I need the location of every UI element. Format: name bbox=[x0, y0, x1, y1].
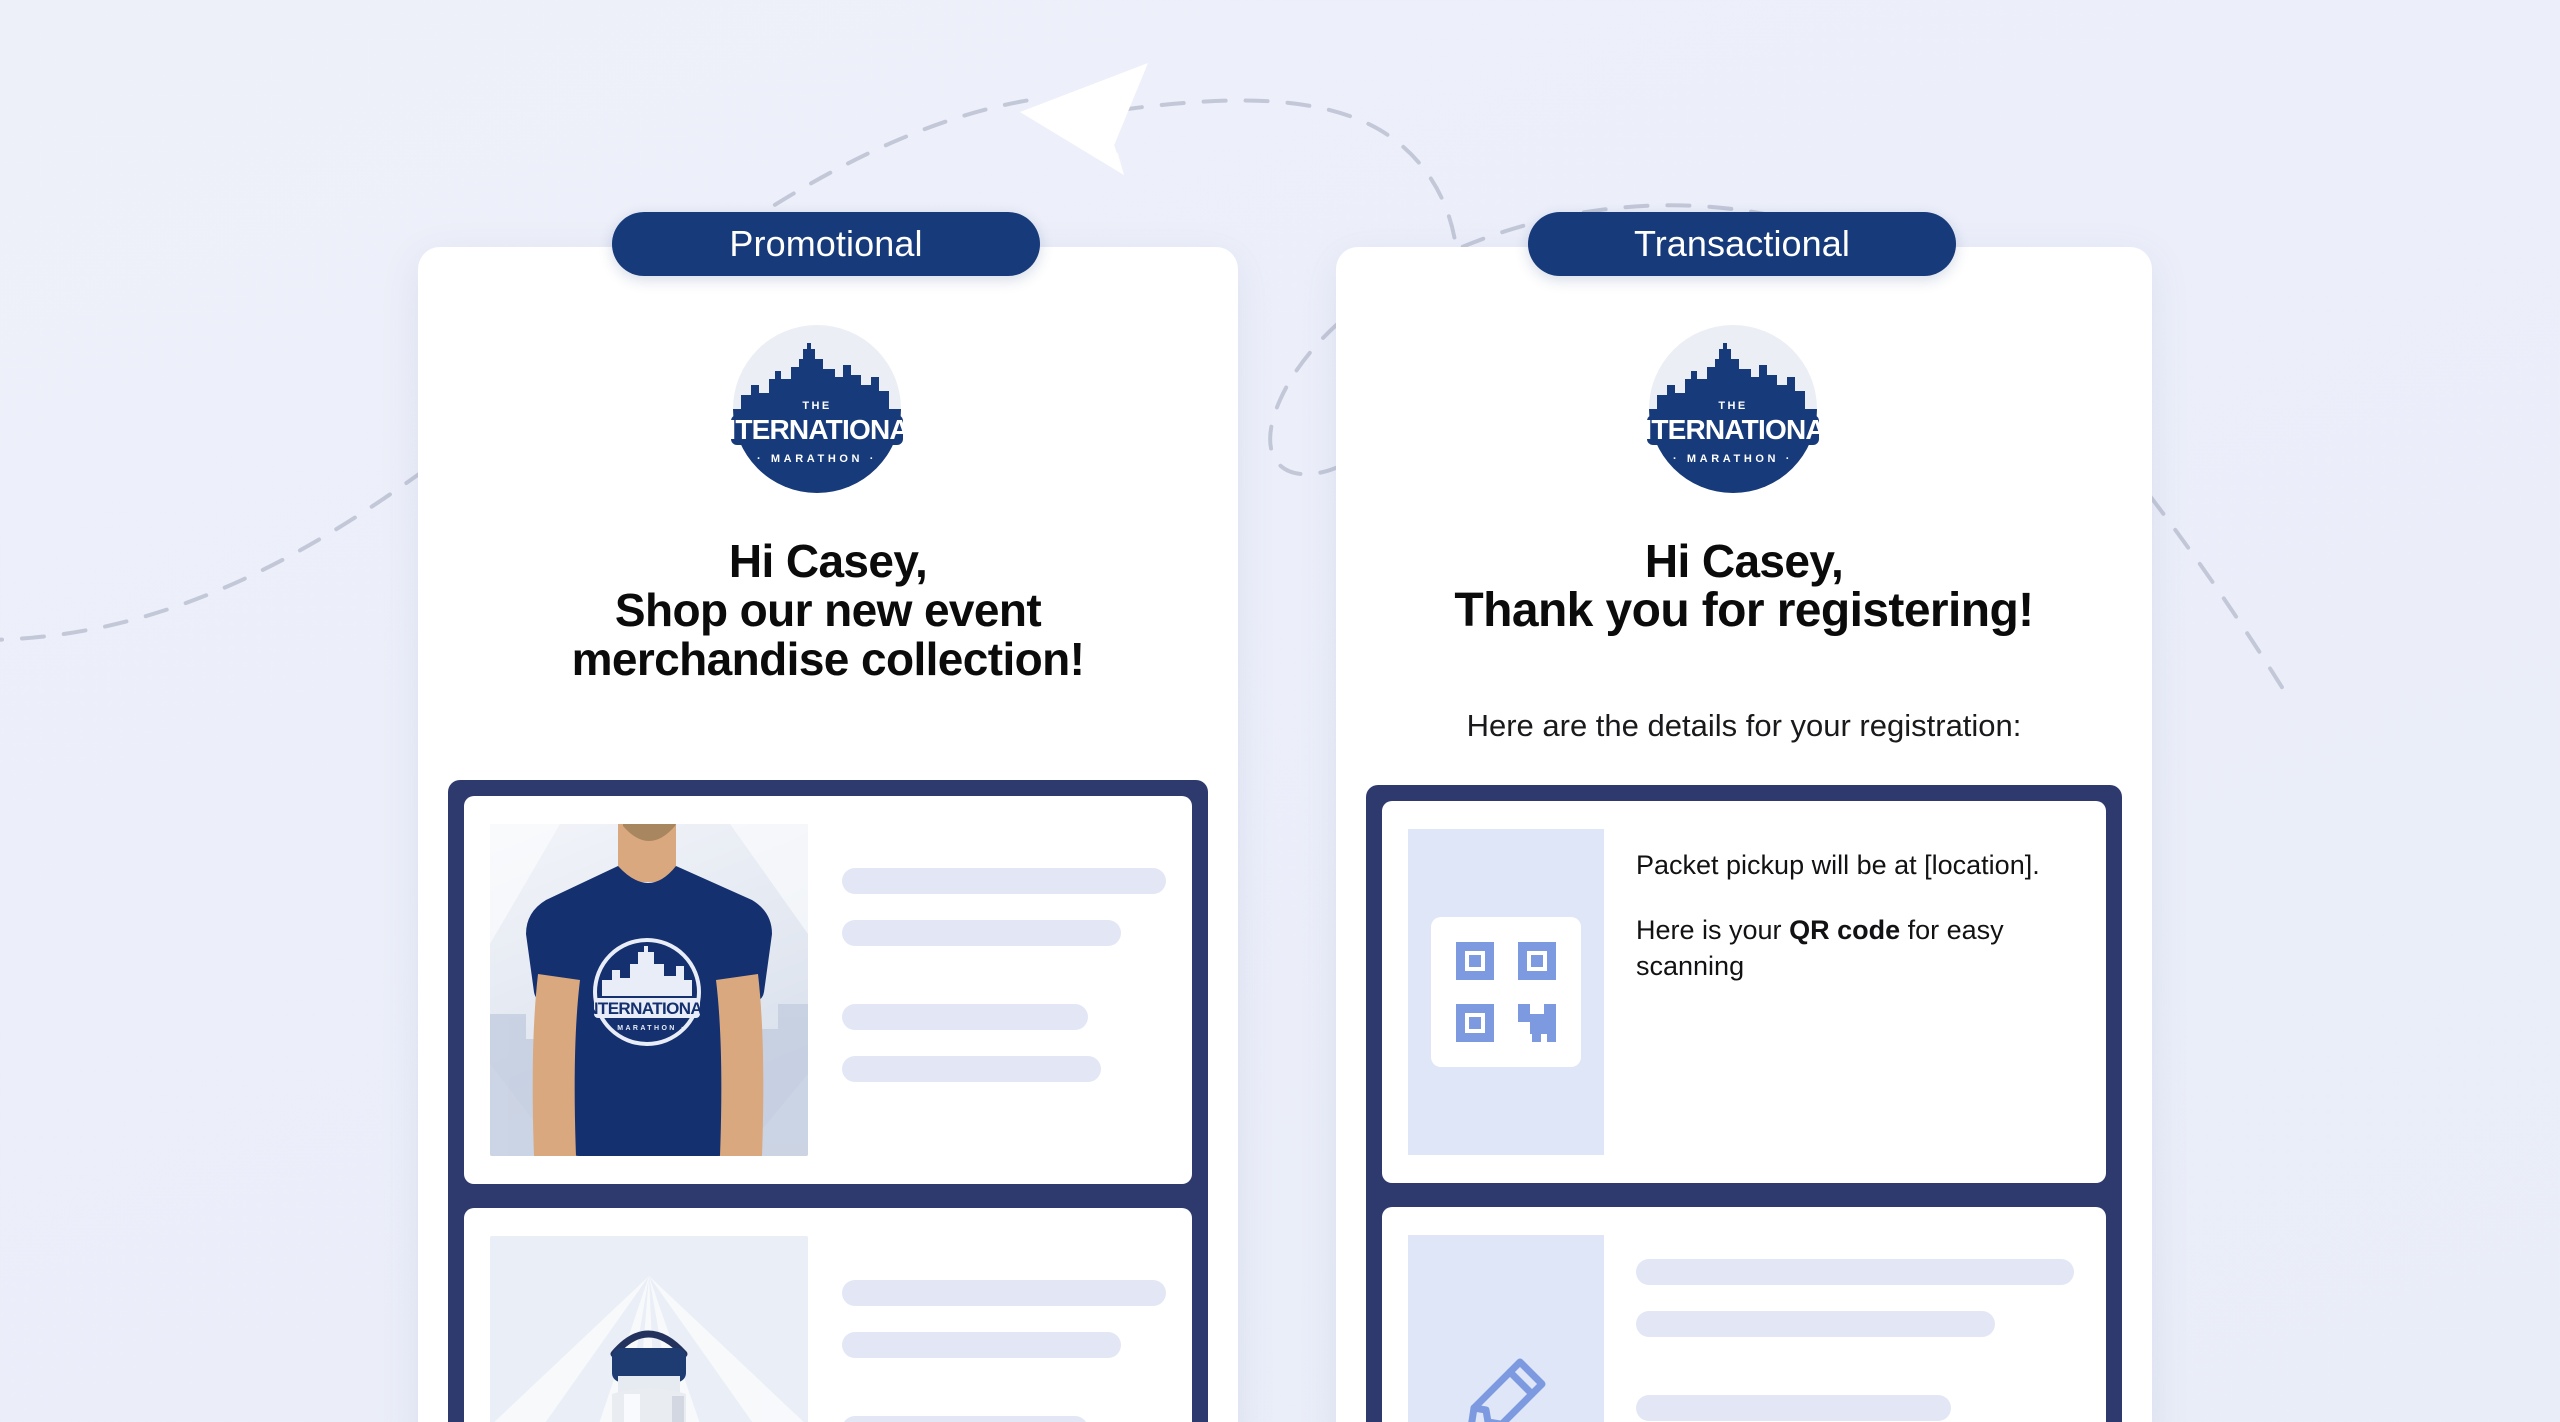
headline-line: merchandise collection! bbox=[438, 635, 1218, 684]
skeleton-bar bbox=[1636, 1259, 2074, 1285]
skeleton-bar bbox=[842, 1416, 1088, 1422]
logo-main: INTERNATIONAL bbox=[711, 414, 923, 445]
promotional-badge[interactable]: Promotional bbox=[612, 212, 1040, 276]
qr-code-icon bbox=[1454, 940, 1558, 1044]
pencil-tile bbox=[1408, 1235, 1604, 1422]
transactional-headline: Hi Casey, Thank you for registering! bbox=[1356, 537, 2132, 637]
logo-the: THE bbox=[802, 400, 831, 412]
promotional-headline: Hi Casey, Shop our new event merchandise… bbox=[438, 537, 1218, 683]
qr-text-pre: Here is your bbox=[1636, 915, 1789, 945]
detail-copy-qr: Packet pickup will be at [location]. Her… bbox=[1604, 829, 2080, 985]
product-copy-waterbottle bbox=[808, 1236, 1166, 1422]
skeleton-bar bbox=[842, 1056, 1101, 1082]
product-copy-tshirt bbox=[808, 824, 1166, 1082]
svg-text:INTERNATIONAL: INTERNATIONAL bbox=[582, 999, 712, 1018]
skeleton-bar bbox=[1636, 1311, 1995, 1337]
qr-paragraph-2: Here is your QR code for easy scanning bbox=[1636, 912, 2074, 985]
logo-sub: · MARATHON · bbox=[757, 453, 877, 465]
qr-paragraph-1: Packet pickup will be at [location]. bbox=[1636, 847, 2074, 884]
detail-copy-details bbox=[1604, 1235, 2080, 1421]
international-marathon-logo: THE INTERNATIONAL · MARATHON · bbox=[711, 319, 923, 493]
headline-line: Shop our new event bbox=[438, 586, 1218, 635]
logo-main: INTERNATIONAL bbox=[1627, 414, 1839, 445]
qr-code-tile bbox=[1408, 829, 1604, 1155]
qr-text-bold: QR code bbox=[1789, 915, 1900, 945]
svg-text:· MARATHON ·: · MARATHON · bbox=[608, 1025, 686, 1032]
transactional-subtitle: Here are the details for your registrati… bbox=[1356, 707, 2132, 746]
skeleton-bar bbox=[842, 1004, 1088, 1030]
detail-panel-details[interactable] bbox=[1382, 1207, 2106, 1422]
tshirt-product-photo: THE INTERNATIONAL · MARATHON · bbox=[490, 824, 808, 1156]
water-bottle-product-photo: INTERNATIONAL · MARATHON · bbox=[490, 1236, 808, 1422]
skeleton-bar bbox=[842, 1332, 1121, 1358]
skeleton-bar bbox=[842, 868, 1166, 894]
promotional-product-frame: THE INTERNATIONAL · MARATHON · bbox=[448, 780, 1208, 1422]
skeleton-bar bbox=[842, 920, 1121, 946]
product-panel-waterbottle[interactable]: INTERNATIONAL · MARATHON · bbox=[464, 1208, 1192, 1422]
pencil-icon bbox=[1456, 1348, 1556, 1422]
skeleton-bar bbox=[1636, 1395, 1951, 1421]
svg-text:THE: THE bbox=[638, 989, 657, 996]
skeleton-bar bbox=[842, 1280, 1166, 1306]
logo-sub: · MARATHON · bbox=[1673, 453, 1793, 465]
headline-line: Thank you for registering! bbox=[1356, 586, 2132, 637]
international-marathon-logo: THE INTERNATIONAL · MARATHON · bbox=[1627, 319, 1839, 493]
headline-line: Hi Casey, bbox=[1356, 537, 2132, 586]
headline-line: Hi Casey, bbox=[438, 537, 1218, 586]
transactional-detail-frame: Packet pickup will be at [location]. Her… bbox=[1366, 785, 2122, 1422]
logo-the: THE bbox=[1718, 400, 1747, 412]
transactional-badge[interactable]: Transactional bbox=[1528, 212, 1956, 276]
detail-panel-qr[interactable]: Packet pickup will be at [location]. Her… bbox=[1382, 801, 2106, 1183]
product-panel-tshirt[interactable]: THE INTERNATIONAL · MARATHON · bbox=[464, 796, 1192, 1184]
